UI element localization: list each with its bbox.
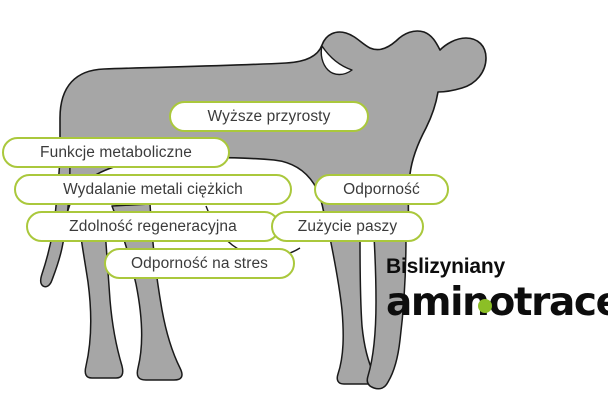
callout-label: Odporność na stres xyxy=(131,255,268,272)
callout-wydalanie-metali-ciezkich[interactable]: Wydalanie metali ciężkich xyxy=(14,174,292,205)
callout-label: Odporność xyxy=(343,181,420,198)
brand-logo: Bislizyniany aminotrace xyxy=(386,255,608,340)
callout-zuzycie-paszy[interactable]: Zużycie paszy xyxy=(271,211,424,242)
logo-green-dot-icon xyxy=(478,299,492,313)
logo-brand-name: aminotrace xyxy=(386,281,608,325)
callout-label: Zdolność regeneracyjna xyxy=(69,218,237,235)
callout-label: Wydalanie metali ciężkich xyxy=(63,181,243,198)
callout-wyzsze-przyrosty[interactable]: Wyższe przyrosty xyxy=(169,101,369,132)
callout-label: Zużycie paszy xyxy=(298,218,398,235)
infographic-canvas: Wyższe przyrosty Funkcje metaboliczne Wy… xyxy=(0,0,608,405)
logo-brand-prefix: amin xyxy=(386,280,489,325)
cow-leg-front-far xyxy=(330,238,375,384)
callout-zdolnosc-regeneracyjna[interactable]: Zdolność regeneracyjna xyxy=(26,211,280,242)
callout-funkcje-metaboliczne[interactable]: Funkcje metaboliczne xyxy=(2,137,230,168)
callout-odpornosc[interactable]: Odporność xyxy=(314,174,449,205)
logo-tagline: Bislizyniany xyxy=(386,255,608,279)
callout-label: Funkcje metaboliczne xyxy=(40,144,192,161)
callout-odpornosc-na-stres[interactable]: Odporność na stres xyxy=(104,248,295,279)
callout-label: Wyższe przyrosty xyxy=(208,108,331,125)
logo-brand-suffix: trace xyxy=(514,280,608,325)
